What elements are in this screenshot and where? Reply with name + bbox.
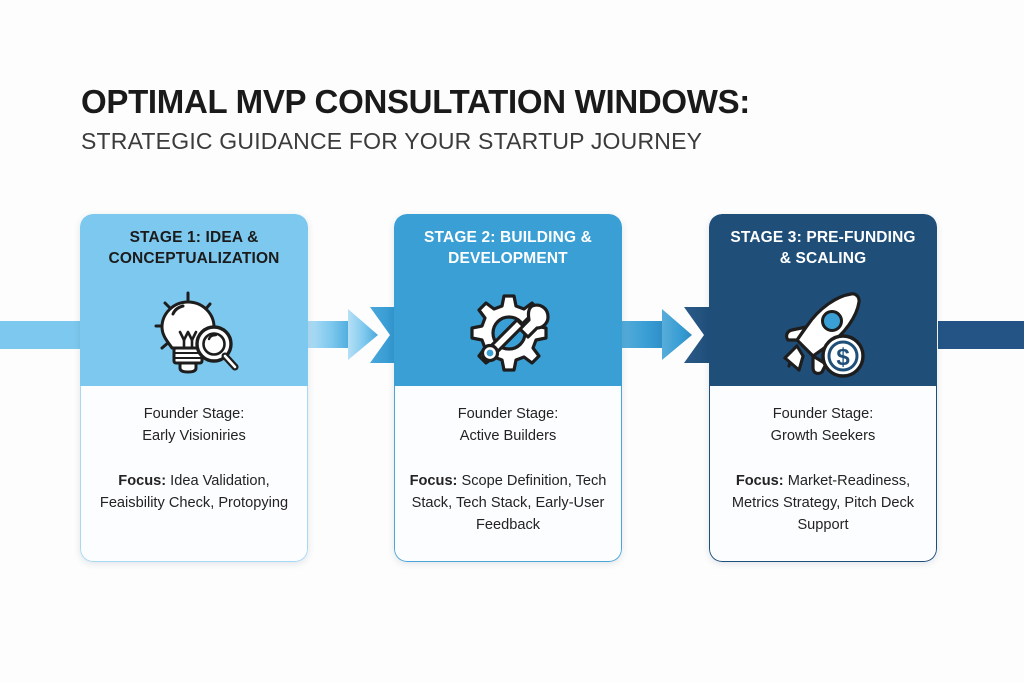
stage-card-1-founder-label: Founder Stage: (142, 404, 246, 426)
stage-card-1[interactable]: STAGE 1: IDEA & CONCEPTUALIZATION (80, 214, 308, 562)
page-subtitle: STRATEGIC GUIDANCE FOR YOUR STARTUP JOUR… (81, 128, 941, 154)
stage-card-3-body: Founder Stage: Growth Seekers Focus: Mar… (709, 386, 937, 562)
stage-card-3-founder-value: Growth Seekers (771, 426, 876, 448)
stage-card-3-title: STAGE 3: PRE-FUNDING & SCALING (723, 228, 923, 269)
stage-card-3-header: STAGE 3: PRE-FUNDING & SCALING $ (709, 214, 937, 386)
heading-block: OPTIMAL MVP CONSULTATION WINDOWS: STRATE… (81, 84, 941, 154)
stage-card-1-body: Founder Stage: Early Visioniries Focus: … (80, 386, 308, 562)
svg-text:$: $ (836, 344, 850, 371)
stage-card-2-focus: Focus: Scope Definition, Tech Stack, Tec… (395, 470, 621, 537)
stage-card-1-founder: Founder Stage: Early Visioniries (142, 404, 246, 448)
stage-card-2-title: STAGE 2: BUILDING & DEVELOPMENT (408, 228, 608, 269)
stage-card-2-body: Founder Stage: Active Builders Focus: Sc… (394, 386, 622, 562)
stage-card-3-founder-label: Founder Stage: (771, 404, 876, 426)
stage-card-1-header: STAGE 1: IDEA & CONCEPTUALIZATION (80, 214, 308, 386)
stage-card-1-focus: Focus: Idea Validation, Feaisbility Chec… (81, 470, 307, 514)
flow-rail-right (938, 321, 1024, 349)
stage-card-1-focus-label: Focus: (118, 473, 170, 489)
stage-card-2[interactable]: STAGE 2: BUILDING & DEVELOPMENT Founder … (394, 214, 622, 562)
arrow-stage2-to-stage3 (620, 305, 712, 365)
stage-card-2-header: STAGE 2: BUILDING & DEVELOPMENT (394, 214, 622, 386)
page-title: OPTIMAL MVP CONSULTATION WINDOWS: (81, 84, 941, 121)
infographic-canvas: OPTIMAL MVP CONSULTATION WINDOWS: STRATE… (0, 0, 1024, 683)
stage-card-3-focus-label: Focus: (736, 473, 788, 489)
stage-card-2-founder-value: Active Builders (458, 426, 559, 448)
flow-rail-left (0, 321, 84, 349)
stage-card-3[interactable]: STAGE 3: PRE-FUNDING & SCALING $ Founder… (709, 214, 937, 562)
stage-card-3-focus: Focus: Market-Readiness, Metrics Strateg… (710, 470, 936, 537)
stage-card-2-founder-label: Founder Stage: (458, 404, 559, 426)
stage-card-2-focus-label: Focus: (410, 473, 462, 489)
stage-card-1-founder-value: Early Visioniries (142, 426, 246, 448)
lightbulb-magnifier-icon (142, 286, 246, 382)
rocket-dollar-icon: $ (771, 286, 875, 382)
stage-card-1-title: STAGE 1: IDEA & CONCEPTUALIZATION (94, 228, 294, 269)
arrow-stage1-to-stage2 (306, 305, 398, 365)
stage-card-3-founder: Founder Stage: Growth Seekers (771, 404, 876, 448)
gear-wrench-icon (456, 286, 560, 382)
stage-card-2-founder: Founder Stage: Active Builders (458, 404, 559, 448)
